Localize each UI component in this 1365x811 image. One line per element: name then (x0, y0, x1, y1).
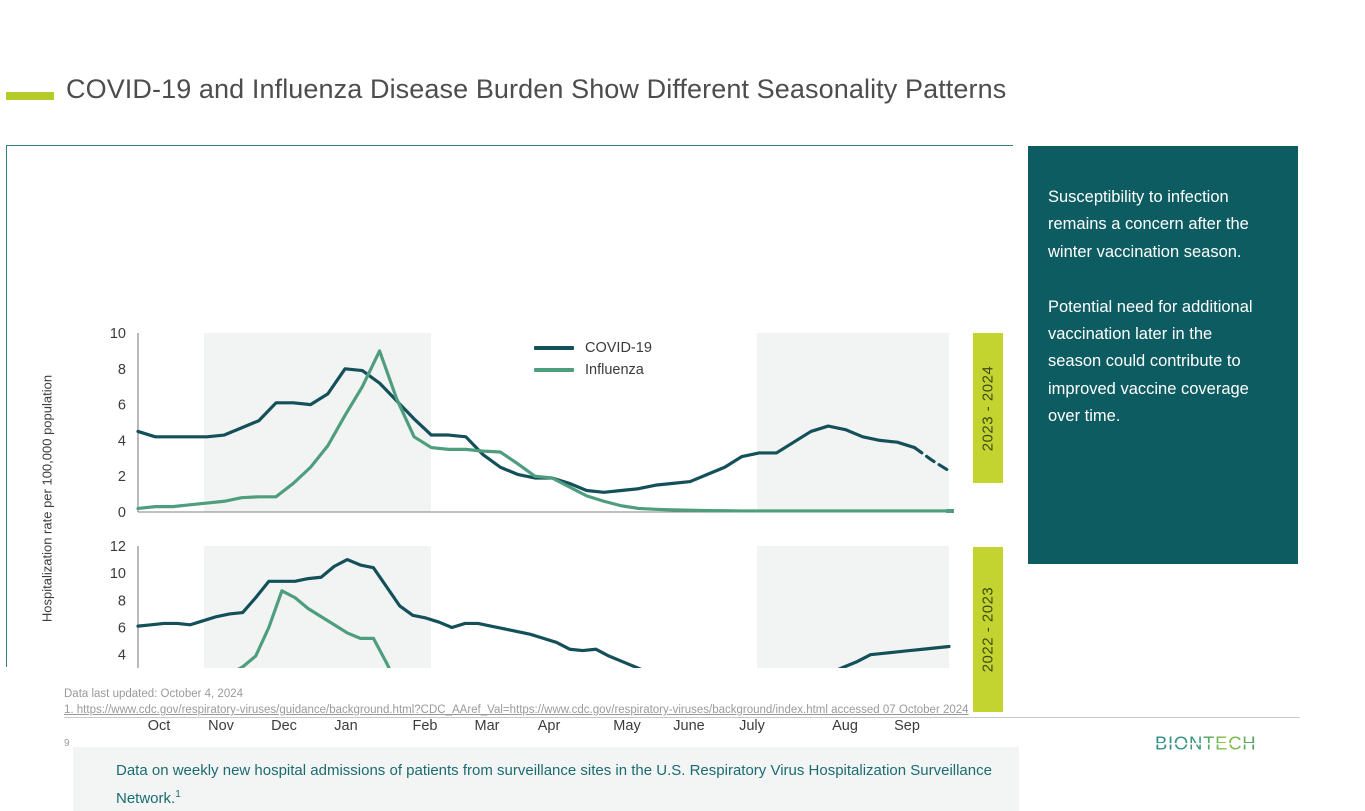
insight-paragraph-1: Susceptibility to infection remains a co… (1048, 184, 1268, 266)
season-tag-2023-2024: 2023 - 2024 (973, 333, 1003, 483)
x-tick-label-dec: Dec (271, 718, 297, 734)
chart-caption-sentence: Data on weekly new hospital admissions o… (116, 762, 992, 807)
y-tick-label: 10 (110, 326, 126, 342)
x-tick-label-sep: Sep (894, 718, 920, 734)
x-tick-label-may: May (613, 718, 640, 734)
biontech-wordmark: BIONTECH (1155, 732, 1256, 753)
footnotes: Data last updated: October 4, 2024 1. ht… (64, 686, 1304, 718)
y-tick-label: 4 (118, 433, 126, 449)
y-tick-label: 6 (118, 621, 126, 637)
y-tick-label: 4 (118, 648, 126, 664)
y-tick-label: 0 (118, 505, 126, 521)
x-tick-label-june: June (673, 718, 704, 734)
footnote-reference-link[interactable]: 1. https://www.cdc.gov/respiratory-virus… (64, 702, 969, 718)
chart-caption-text: Data on weekly new hospital admissions o… (116, 759, 1005, 811)
legend-item-covid[interactable]: COVID-19 (534, 337, 652, 359)
x-tick-label-feb: Feb (413, 718, 438, 734)
series-end-marker (946, 509, 954, 513)
x-tick-label-oct: Oct (148, 718, 171, 734)
x-tick-label-apr: Apr (538, 718, 561, 734)
page-number: 9 (64, 738, 70, 749)
chart-legend: COVID-19 Influenza (534, 337, 652, 381)
line-chart-svg: 0246810024681012 (7, 146, 1014, 668)
shaded-band (204, 333, 431, 512)
y-tick-label: 12 (110, 539, 126, 555)
y-tick-label: 8 (118, 593, 126, 609)
x-tick-label-mar: Mar (475, 718, 500, 734)
footnote-divider (64, 717, 1300, 718)
insight-paragraph-2: Potential need for additional vaccinatio… (1048, 294, 1268, 430)
legend-swatch-influenza (534, 368, 574, 372)
y-tick-label: 10 (110, 566, 126, 582)
x-tick-label-jan: Jan (334, 718, 357, 734)
legend-item-influenza[interactable]: Influenza (534, 359, 652, 381)
footnote-last-updated: Data last updated: October 4, 2024 (64, 686, 1304, 702)
season-tag-label-top: 2023 - 2024 (980, 365, 997, 451)
title-accent-bar (6, 92, 54, 100)
chart-plot-area: 0246810024681012 Hospitalization rate pe… (7, 146, 1014, 668)
chart-caption-box: Data on weekly new hospital admissions o… (73, 747, 1019, 811)
chart-caption-footnote-marker: 1 (175, 789, 181, 800)
y-tick-label: 8 (118, 362, 126, 378)
x-axis-tick-labels: OctNovDecJanFebMarAprMayJuneJulyAugSep (7, 718, 1014, 742)
legend-label-covid: COVID-19 (585, 340, 652, 356)
shaded-band (204, 546, 431, 668)
x-tick-label-nov: Nov (208, 718, 234, 734)
page-title: COVID-19 and Influenza Disease Burden Sh… (66, 74, 1316, 105)
legend-swatch-covid (534, 346, 574, 350)
x-tick-label-aug: Aug (832, 718, 858, 734)
legend-label-influenza: Influenza (585, 362, 644, 378)
chart-panel: 0246810024681012 Hospitalization rate pe… (6, 145, 1013, 667)
logo-strike (1155, 743, 1301, 745)
y-tick-label: 6 (118, 398, 126, 414)
y-tick-label: 2 (118, 469, 126, 485)
biontech-logo: BIONTECH (1155, 732, 1301, 756)
insight-panel: Susceptibility to infection remains a co… (1028, 146, 1298, 564)
season-tag-label-bottom: 2022 - 2023 (980, 587, 997, 673)
x-tick-label-july: July (739, 718, 765, 734)
shaded-band (757, 333, 949, 512)
